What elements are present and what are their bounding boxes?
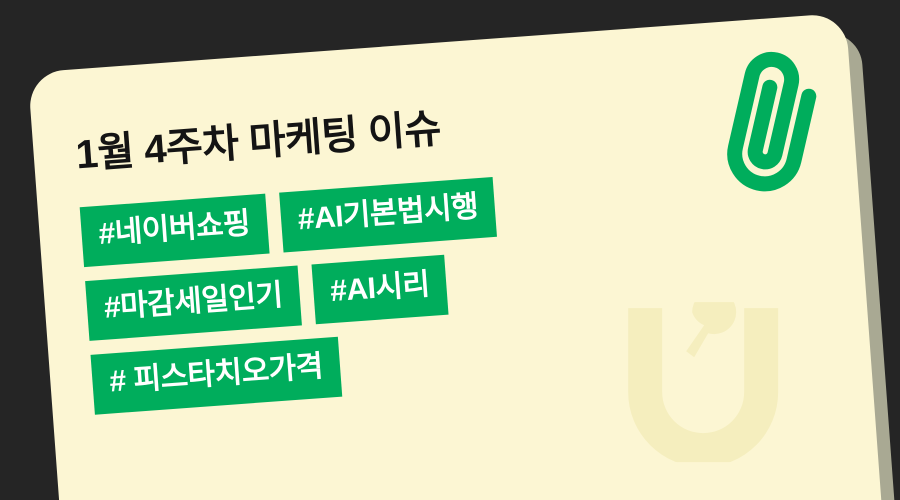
hashtag-tag[interactable]: #AI기본법시행 bbox=[279, 177, 498, 253]
hashtag-tag[interactable]: #네이버쇼핑 bbox=[80, 194, 270, 267]
card-content: 1월 4주차 마케팅 이슈 #네이버쇼핑 #AI기본법시행 #마감세일인기 #A… bbox=[74, 82, 794, 428]
hashtag-tag[interactable]: #AI시리 bbox=[311, 255, 448, 325]
screenshot-canvas: 1월 4주차 마케팅 이슈 #네이버쇼핑 #AI기본법시행 #마감세일인기 #A… bbox=[0, 0, 900, 500]
hashtag-list: #네이버쇼핑 #AI기본법시행 #마감세일인기 #AI시리 # 피스타치오가격 bbox=[80, 156, 793, 415]
hashtag-tag[interactable]: # 피스타치오가격 bbox=[91, 337, 342, 415]
hashtag-tag[interactable]: #마감세일인기 bbox=[85, 266, 302, 341]
